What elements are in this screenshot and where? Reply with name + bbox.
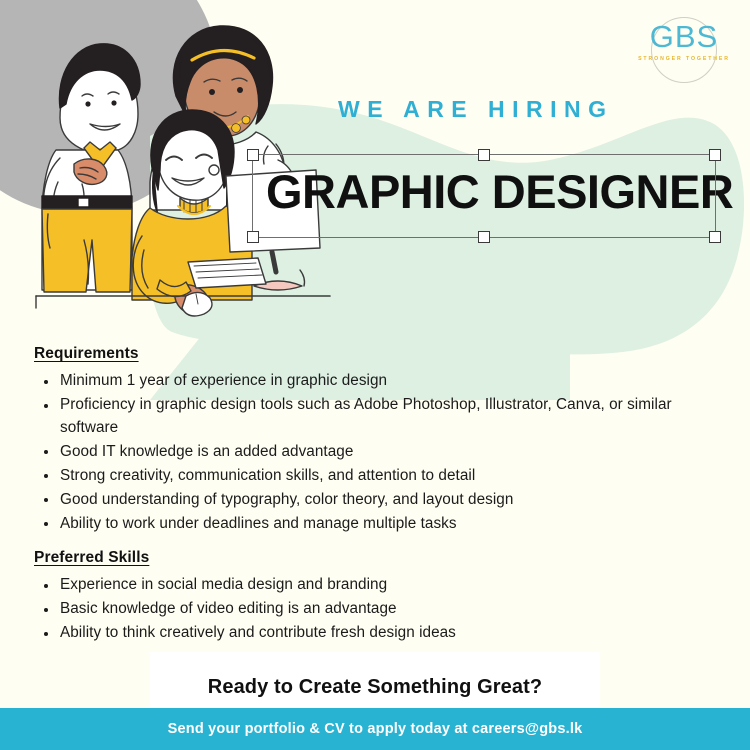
list-item: Ability to work under deadlines and mana…: [34, 513, 714, 536]
eyebrow-heading: WE ARE HIRING: [338, 96, 614, 123]
contact-email[interactable]: careers@gbs.lk: [472, 721, 582, 737]
list-item: Good IT knowledge is an added advantage: [34, 441, 714, 464]
resize-handle-top-left[interactable]: [247, 149, 259, 161]
list-item: Basic knowledge of video editing is an a…: [34, 598, 714, 621]
footer-prefix: Send your portfolio & CV to apply today …: [168, 721, 472, 737]
list-item: Strong creativity, communication skills,…: [34, 465, 714, 488]
resize-handle-bottom-right[interactable]: [709, 231, 721, 243]
footer-text: Send your portfolio & CV to apply today …: [168, 721, 583, 737]
preferred-skills-list: Experience in social media design and br…: [34, 574, 714, 645]
requirements-section: Requirements Minimum 1 year of experienc…: [34, 345, 714, 537]
list-item: Experience in social media design and br…: [34, 574, 714, 597]
resize-handle-top-center[interactable]: [478, 149, 490, 161]
list-item: Proficiency in graphic design tools such…: [34, 394, 714, 439]
list-item: Minimum 1 year of experience in graphic …: [34, 370, 714, 393]
logo-wordmark: GBS: [636, 14, 732, 60]
footer-contact-bar: Send your portfolio & CV to apply today …: [0, 708, 750, 750]
requirements-heading: Requirements: [34, 345, 714, 363]
job-poster: GBS STRONGER TOGETHER WE ARE HIRING GRAP…: [0, 0, 750, 750]
resize-handle-bottom-center[interactable]: [478, 231, 490, 243]
preferred-skills-section: Preferred Skills Experience in social me…: [34, 549, 714, 646]
resize-handle-top-right[interactable]: [709, 149, 721, 161]
requirements-list: Minimum 1 year of experience in graphic …: [34, 370, 714, 535]
list-item: Ability to think creatively and contribu…: [34, 622, 714, 645]
preferred-skills-heading: Preferred Skills: [34, 549, 714, 567]
list-item: Good understanding of typography, color …: [34, 489, 714, 512]
gbs-logo: GBS STRONGER TOGETHER: [636, 14, 732, 86]
logo-tagline: STRONGER TOGETHER: [636, 56, 732, 62]
cta-headline: Ready to Create Something Great?: [0, 676, 750, 699]
resize-handle-bottom-left[interactable]: [247, 231, 259, 243]
text-selection-box[interactable]: [252, 154, 716, 238]
